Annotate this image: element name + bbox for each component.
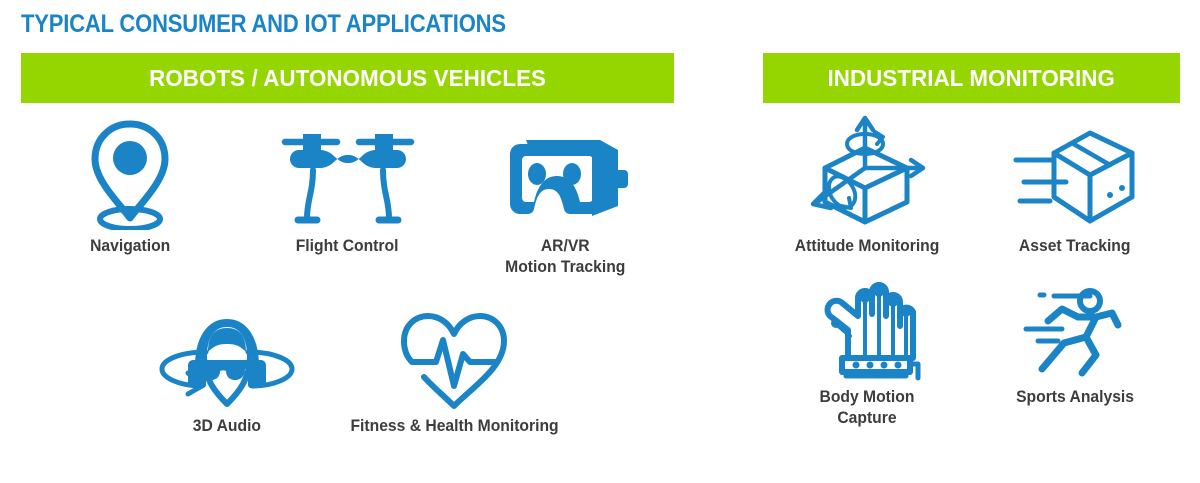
section-header-industrial: INDUSTRIAL MONITORING [763,53,1180,103]
page-title: TYPICAL CONSUMER AND IOT APPLICATIONS [21,10,506,39]
app-label-3d-audio: 3D Audio [193,416,261,437]
app-label-attitude-monitoring: Attitude Monitoring [795,236,940,257]
cube-axes-icon [797,110,937,230]
drone-icon [273,110,423,230]
package-box-icon [1010,110,1140,230]
section-header-robots: ROBOTS / AUTONOMOUS VEHICLES [21,53,674,103]
app-label-body-motion-capture: Body Motion Capture [820,387,915,429]
section-header-robots-label: ROBOTS / AUTONOMOUS VEHICLES [149,65,546,92]
app-row: 3D Audio Fitness & Health Monitoring [21,300,674,437]
app-label-navigation: Navigation [90,236,170,257]
app-item-flight-control[interactable]: Flight Control [239,110,457,278]
sensor-glove-icon [812,271,922,381]
map-pin-icon [78,110,182,230]
app-item-attitude-monitoring[interactable]: Attitude Monitoring [763,110,971,257]
app-item-asset-tracking[interactable]: Asset Tracking [971,110,1179,257]
section-robots-autonomous-vehicles: Navigation [21,110,674,437]
app-item-sports-analysis[interactable]: Sports Analysis [971,271,1179,429]
app-label-sports-analysis: Sports Analysis [1016,387,1134,408]
app-item-navigation[interactable]: Navigation [21,110,239,278]
app-row: Navigation [21,110,674,278]
runner-icon [1018,271,1133,381]
app-item-body-motion-capture[interactable]: Body Motion Capture [763,271,971,429]
app-row: Attitude Monitoring [763,110,1180,257]
app-item-3d-audio[interactable]: 3D Audio [113,300,341,437]
app-label-ar-vr-motion-tracking: AR/VR Motion Tracking [505,236,625,278]
app-item-ar-vr-motion-tracking[interactable]: AR/VR Motion Tracking [456,110,674,278]
section-industrial-monitoring: Attitude Monitoring [763,110,1180,429]
app-row: Body Motion Capture [763,271,1180,429]
heart-ecg-icon [400,300,510,410]
app-label-flight-control: Flight Control [296,236,399,257]
head-headphones-icon [152,300,302,410]
app-label-asset-tracking: Asset Tracking [1019,236,1131,257]
vr-headset-icon [500,110,630,230]
section-header-industrial-label: INDUSTRIAL MONITORING [828,65,1116,92]
app-item-fitness-health-monitoring[interactable]: Fitness & Health Monitoring [341,300,569,437]
app-label-fitness-health-monitoring: Fitness & Health Monitoring [351,416,559,437]
